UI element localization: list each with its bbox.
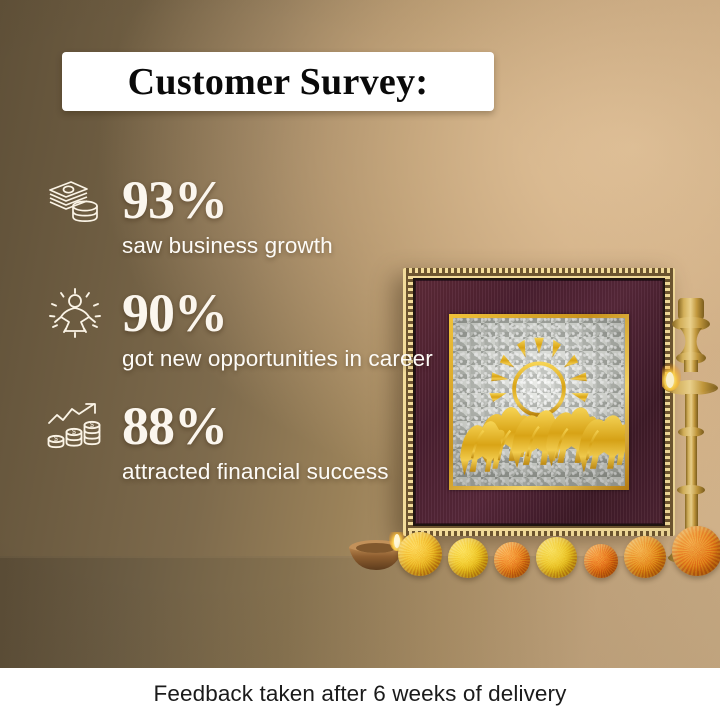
marigold-bloom	[398, 532, 442, 576]
stat-label: got new opportunities in career	[122, 345, 442, 374]
stat-header: 90%	[44, 285, 444, 341]
stat-item: 93% saw business growth	[44, 172, 444, 261]
survey-stats-list: 93% saw business growth	[44, 172, 444, 510]
stat-item: 90% got new opportunities in career	[44, 285, 444, 374]
footer-note: Feedback taken after 6 weeks of delivery	[154, 681, 567, 707]
person-shining-icon	[44, 285, 106, 341]
footer-bar: Feedback taken after 6 weeks of delivery	[0, 668, 720, 720]
stat-value: 88%	[122, 399, 227, 453]
marigold-bloom	[448, 538, 488, 578]
artwork-canvas	[453, 318, 625, 486]
stat-label: saw business growth	[122, 232, 442, 261]
growth-chart-coins-icon: $ $ $	[44, 398, 106, 454]
stat-value: 93%	[122, 173, 227, 227]
promo-image-root: Customer Survey: 93%	[0, 0, 720, 720]
svg-text:$: $	[72, 429, 76, 436]
svg-text:$: $	[54, 436, 58, 443]
stat-value: 90%	[122, 286, 227, 340]
marigold-bloom	[494, 542, 530, 578]
svg-text:$: $	[90, 422, 94, 429]
stat-header: 93%	[44, 172, 444, 228]
stat-label: attracted financial success	[122, 458, 442, 487]
stat-item: $ $ $ 88% attracted financial success	[44, 398, 444, 487]
title-banner: Customer Survey:	[62, 52, 494, 111]
gold-liner	[449, 314, 629, 490]
marigold-bloom	[672, 526, 720, 576]
marigold-bloom	[624, 536, 666, 578]
seven-horses-sun-motif	[453, 318, 625, 486]
page-title: Customer Survey:	[128, 63, 429, 101]
marigold-bloom	[536, 537, 577, 578]
cash-stack-icon	[44, 172, 106, 228]
marigold-bloom	[584, 544, 618, 578]
marigold-garland	[398, 518, 720, 576]
stat-header: $ $ $ 88%	[44, 398, 444, 454]
